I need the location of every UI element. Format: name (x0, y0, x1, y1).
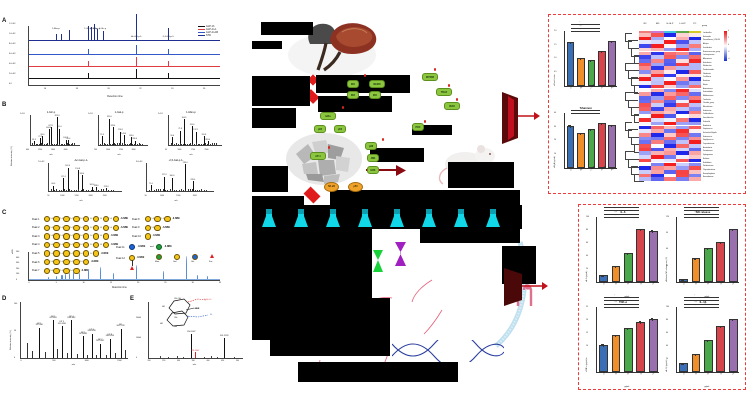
hexose-unit (63, 216, 69, 222)
panel-a-peak (136, 57, 137, 66)
bar-PC (608, 41, 616, 86)
heatmap-row-label: Romboutsia (703, 126, 711, 127)
spectrum-noise (101, 189, 102, 191)
panel-d-peak-label: DP 62000.4238 (88, 329, 96, 333)
bar-L-GLP (588, 129, 596, 168)
panel-a-plot: 1-Man-p1-Glc-p1-Gal-p1-Fuc-p1-Glc-p-Ac-G… (28, 26, 220, 86)
panel-e-peak-label: 376.1007 (191, 350, 199, 352)
panel-d-peak (110, 339, 111, 358)
spectrum-noise (154, 190, 155, 191)
heatmap-row-label: Escherichia-Shigella (703, 133, 717, 134)
spectrum-peak-label: 137.1 (193, 129, 198, 131)
error-cap (579, 58, 581, 59)
glycan-chain: 1-41-41-41-41-41-4-6-NBE (44, 233, 119, 239)
heatmap-row-label: Rikenellaceae (703, 107, 712, 108)
spectrum-title: -2,6-Gal-p-1- (136, 159, 216, 162)
spectrum-peak (57, 117, 58, 145)
spectrum-noise (197, 190, 198, 191)
group-label: NC (644, 23, 647, 25)
spectrum-noise (59, 190, 60, 191)
panel-b-spectrum: 1-Gal-p72.8325.0128.6170.8143.4120.0266.… (88, 112, 150, 154)
error-cap (579, 133, 581, 134)
barchart-xtick: LPS (652, 281, 656, 285)
panel-a-peak (97, 29, 98, 40)
barchart-ytick: 0 (554, 85, 555, 87)
barchart-ytick: 40 (554, 112, 556, 114)
redaction-block (252, 108, 296, 128)
conjunction: and (150, 246, 154, 248)
panel-e-xtick: 200 (148, 360, 151, 362)
spectrum-noise (71, 144, 72, 145)
spectrum-noise (192, 189, 193, 191)
chromatogram-peak (136, 265, 137, 280)
spectrum-peak-label: 120.0 (129, 135, 134, 137)
heatmap-cell (664, 177, 676, 181)
error-bar (570, 42, 571, 44)
panel-d-xlabel: m/z (72, 364, 76, 366)
spectrum-noise (62, 144, 63, 145)
spectrum-noise (49, 144, 50, 145)
error-bar (570, 126, 571, 128)
error-bar (652, 319, 653, 322)
panel-c-peak-row: Peak 11-41-41-41-41-41-41-4-6-NBE (32, 216, 128, 222)
chrom-xtick: 15 (110, 282, 112, 284)
spectrum-noise (201, 144, 202, 145)
diversity-barchart: 00.51.01.52.0Chao1 indexCTMDL-GLPH-GLPPC… (553, 25, 619, 101)
spectrum-noise (74, 143, 75, 145)
error-bar (720, 243, 721, 244)
spectrum-xtick: 2000 (132, 149, 136, 151)
panel-d-peak (100, 344, 101, 358)
glycosidic-bond: 1-4 (100, 218, 102, 220)
spectrum-noise (71, 190, 72, 191)
error-cap (626, 328, 628, 329)
spectrum-noise (54, 144, 55, 145)
barchart-xtick: 25 (695, 373, 698, 376)
panel-d-peak (39, 328, 40, 358)
spectrum-noise (34, 144, 35, 145)
barchart-ytick: 0 (666, 371, 667, 373)
barchart-xtick: 50 (627, 283, 630, 286)
barchart-ylabel: Chao1 index (554, 74, 556, 85)
heatmap-row-label: Ralstonia (703, 159, 709, 160)
spectrum-noise (140, 144, 141, 145)
panel-d-peak-label: DP 51673.4485 (79, 332, 87, 336)
panel-d-minor-peak (115, 353, 116, 358)
cytokine-chart: IL-6020406080100IL-6 (pg/mL)μg/mLCT25501… (585, 211, 661, 297)
bar-CT (567, 42, 575, 86)
panel-e-peak (195, 352, 196, 358)
color-scale-tick: -4 (728, 59, 729, 60)
group-color-band (639, 31, 651, 33)
spectrum-noise (189, 144, 190, 145)
barchart-ylabel: IL-1β (pg/mL) (666, 360, 668, 371)
spectrum-noise (83, 189, 84, 191)
heatmap-row-label: Enterorhabdus (703, 92, 713, 93)
spectrum-ymax: 7.0×10⁶ (38, 161, 45, 163)
barchart: NO release0306090120Relative NO release … (665, 211, 741, 297)
spectrum-noise (130, 143, 131, 145)
panel-d-peak-label: DP 2692.2663 (50, 316, 57, 320)
error-cap (731, 319, 733, 320)
spectrum-peak (109, 119, 110, 145)
spectrum-peak-label: 117.3 (162, 174, 167, 176)
error-cap (589, 129, 591, 130)
panel-e-minor-peak (168, 357, 169, 359)
glycosidic-bond: 1-4 (100, 227, 102, 229)
spectrum-noise (165, 190, 166, 191)
panel-a-peak (168, 61, 169, 66)
panel-e-minor-peak (217, 357, 218, 358)
panel-a-chromatogram: A 1-Man-p1-Glc-p1-Gal-p1-Fuc-p1-Glc-p-Ac… (6, 22, 224, 96)
spectrum-noise (207, 144, 208, 145)
bar-100 (636, 229, 645, 282)
spectrum-noise (56, 144, 57, 145)
error-cap (639, 321, 641, 322)
dp-mz: 2664.5538 (106, 336, 114, 338)
pathway-node-p65: p65 (314, 125, 326, 133)
barchart-xtick: 50 (707, 373, 710, 376)
bar-PC (608, 125, 616, 168)
spectrum-noise (187, 144, 188, 145)
spectrum-xlabel: m/z (49, 154, 52, 156)
panel-a-xtick: 20 (107, 88, 109, 90)
chrom-ytick: 500 (16, 251, 19, 253)
heatmap-cell (639, 177, 651, 181)
barchart-xtick: 25 (615, 283, 618, 286)
glycan-chain: 1-41-41-41-41-41-41-4-6-NBE (44, 216, 128, 222)
spectrum-peak (193, 181, 194, 191)
spectrum-noise (32, 143, 33, 145)
peak-name: Peak 9 (132, 226, 144, 229)
panel-a-peak (168, 49, 169, 54)
spectrum-noise (108, 190, 109, 191)
panel-a-peak (61, 34, 62, 40)
barchart-xtick: LPS (652, 371, 656, 375)
spectrum-noise (216, 143, 217, 145)
spectrum-noise (41, 143, 42, 145)
barchart-xtick: 100 (640, 372, 644, 376)
bar-H-GLP (598, 51, 606, 86)
error-bar (590, 60, 591, 62)
hexose-unit (44, 225, 50, 231)
spectrum-xtick: 50 (165, 149, 167, 151)
barchart-xtick: 25 (695, 283, 698, 286)
barchart: TNF-α0510152025TNF-α (pg/mL)μg/mLCT25501… (585, 301, 661, 387)
error-cap (639, 229, 641, 230)
panel-c-peak-row: Peak 41-41-41-41-41-41-4-6-NBE (32, 242, 118, 248)
hexose-unit (73, 242, 79, 248)
panel-a-trace (29, 78, 220, 79)
panel-d-letter: D (2, 296, 6, 302)
spectrum-xlabel: m/z (117, 154, 120, 156)
error-cap (614, 266, 616, 267)
barchart-plot: CT2550100LPS********** (676, 307, 739, 373)
panel-d-minor-peak (87, 355, 88, 358)
spectrum-noise (78, 189, 79, 191)
barchart-xtick: CT (570, 86, 573, 89)
redaction-block (448, 162, 514, 188)
heatmap-row-label: Parabacteroides (703, 70, 714, 71)
error-bar (603, 276, 604, 277)
panel-a-trace (29, 66, 220, 67)
spectrum-peak-label: 150.8 (75, 168, 80, 170)
panel-a-peak (103, 31, 104, 40)
spectrum-noise (86, 190, 87, 192)
hexose-unit (73, 225, 79, 231)
spectrum-xtick: 2500 (205, 149, 209, 151)
spectrum-peak-label: 170.4 (66, 138, 71, 140)
bar-CT (599, 275, 608, 282)
spectrum-peak-label: 266.4 (132, 138, 137, 140)
redaction-block (252, 229, 372, 301)
spectrum-noise (47, 143, 48, 145)
barchart-xtick: MD (580, 168, 584, 172)
panel-d-peak-label: DP 41346.3862 (67, 316, 75, 320)
spectrum-noise (81, 190, 82, 191)
panel-c-peak-row: Peak 81-41-4-6-NBE (132, 216, 180, 222)
dna-node-nfb: NF-κB (324, 182, 339, 192)
spectrum-peak (51, 127, 52, 145)
spectrum-peak-label: 188.0 (94, 185, 99, 187)
glycosidic-bond: 1-4 (90, 235, 92, 237)
panel-c-peak-row: Peak 31-41-41-41-41-41-4-6-NBE (32, 233, 118, 239)
bar-MD (577, 133, 585, 168)
error-cap (626, 253, 628, 254)
spectrum-peak (68, 168, 69, 191)
heatmap-row-label: Muribaculum (703, 66, 712, 67)
heatmap-row-label: Sphingomonas (703, 155, 713, 156)
reducing-end-label: -6-NBE (111, 235, 119, 237)
legend-swatch (198, 29, 205, 30)
spectrum-noise (214, 143, 215, 145)
hexose-unit (73, 233, 79, 239)
error-cap (694, 259, 696, 260)
panel-e-minor-peak (160, 356, 161, 358)
heatmap-row-label: Brevundimonas (703, 177, 713, 178)
spectrum-noise (66, 144, 67, 145)
group-color-band (676, 31, 688, 33)
panel-d-minor-peak (45, 352, 46, 358)
spectrum-noise (119, 143, 120, 145)
panel-a-peak (136, 69, 137, 78)
panel-a-peak (94, 24, 95, 40)
glycosidic-bond: 1-4 (110, 218, 112, 220)
spectrum-noise (54, 190, 55, 191)
heatmap-cell (676, 177, 688, 181)
error-bar (720, 327, 721, 328)
panel-a-legend-item: STD (198, 34, 218, 37)
bar-LPS (649, 231, 658, 282)
glycan-chain: -6-NBE (145, 233, 161, 239)
error-bar (640, 230, 641, 232)
panel-c-peak-row: Peak 21-41-41-41-41-41-41-4-6-NBE (32, 225, 128, 231)
color-scale-tick: 4 (728, 31, 729, 32)
spectrum-noise (51, 189, 52, 191)
barchart-xtick: 100 (640, 282, 644, 286)
error-cap (706, 248, 708, 249)
barchart-xlabel: μg/mL (704, 386, 709, 388)
spectrum-noise (96, 190, 97, 192)
dp-mz: 1673.4485 (79, 334, 87, 336)
spectrum-noise (139, 143, 140, 145)
extraction-flask-icon (356, 207, 374, 236)
spectrum-plot: 72.8325.0128.6170.8143.4120.0266.4 (98, 115, 148, 146)
panel-c-oligosaccharides: C nRIU Peak 11-41-41-41-41-41-41-4-6-NBE… (6, 212, 224, 290)
bar-L-GLP (588, 60, 596, 86)
spectrum-noise (142, 144, 143, 145)
panel-d-minor-peak (67, 353, 68, 358)
panel-d-minor-peak (77, 354, 78, 358)
dp-mz: 1346.3862 (67, 318, 75, 320)
spectrum-noise (76, 190, 77, 191)
spectrum-xtick: 1000 (60, 195, 64, 197)
spectrum-plot: 93.372.198.0404.0627.1822.0111.0102.3170… (30, 115, 80, 146)
panel-d-ytick: 0 (14, 357, 15, 359)
spectrum-peak (82, 175, 83, 191)
panel-e-xtick: 450 (221, 360, 224, 362)
spectrum-peak-label: 162.4 (65, 165, 70, 167)
spectrum-noise (204, 190, 205, 191)
panel-e-peak (224, 338, 225, 358)
spectrum-peak (184, 119, 185, 145)
error-bar (603, 345, 604, 347)
spectrum-xlabel: m/z (189, 154, 192, 156)
spectrum-noise (115, 144, 116, 145)
heatmap-legend-title: group (702, 25, 707, 27)
spectrum-noise (190, 189, 191, 191)
spectrum-noise (158, 189, 159, 191)
spectrum-noise (203, 144, 204, 145)
spectrum-noise (195, 190, 196, 191)
spectrum-noise (66, 190, 67, 191)
spectrum-noise (39, 144, 40, 145)
panel-e-xtick: 500 (236, 360, 239, 362)
spectrum-peak-label: 170.8 (118, 129, 123, 131)
color-scale-tick: -2 (728, 52, 729, 53)
pathway-node-ap1: AP-1 (310, 152, 326, 160)
heatmap-row-label: Novosphingobium (703, 174, 715, 175)
dp-mz: 3022.1728 (117, 326, 125, 328)
barchart-xtick: LPS (732, 281, 736, 285)
glycosidic-bond: 1-4 (90, 227, 92, 229)
spectrum-peak-label: 72.1 (38, 136, 42, 138)
chromatogram-peak (100, 267, 101, 280)
spectrum-peak-label: 71.0 (149, 183, 153, 185)
barchart-xtick: 50 (627, 373, 630, 376)
spectrum-noise (106, 190, 107, 191)
spectrum-plot: 71.0117.3166.0138.4228.0 (146, 163, 214, 192)
spectrum-noise (64, 189, 65, 191)
heatmap-row-label: Lactobacillus (703, 33, 712, 34)
panel-a-xtick: 22 (139, 88, 141, 90)
extraction-flask-icon (324, 207, 342, 236)
panel-d-peak-label: DP 1355.1366 (36, 323, 43, 327)
bar-25 (612, 335, 621, 372)
barchart-xtick: 100 (720, 372, 724, 376)
reducing-end-label: -6-NBE (164, 246, 172, 248)
error-cap (568, 42, 570, 43)
barchart-ytick: 60 (586, 242, 588, 244)
panel-d-ytick: 100 (14, 303, 17, 305)
spectrum-noise (160, 189, 161, 191)
extraction-flask-icon (388, 207, 406, 236)
spectrum-peak-label: 50.6 (170, 135, 174, 137)
panel-a-xtick: 16 (44, 88, 46, 90)
chrom-xtick: 5 (56, 282, 57, 284)
panel-d-xtick: 500 (52, 360, 55, 362)
chrom-ytick: 100 (16, 273, 19, 275)
hexose-unit (145, 216, 151, 222)
spectrum-xtick: 2500 (103, 195, 107, 197)
dp-mz: 1019.3288 (58, 324, 66, 326)
bar-25 (612, 266, 621, 282)
hexose-unit (73, 216, 79, 222)
panel-c-peak-row: Peak 11-6-NBEand-6-NBE (116, 244, 172, 250)
chrom-xtick: 30 (192, 282, 194, 284)
barchart: Shannon010203040SIgA (μg/mL)CTMDL-GLPH-G… (553, 107, 619, 183)
panel-c-xlabel: Retention time (112, 287, 127, 289)
spectrum-peak-label: 155.8 (201, 134, 206, 136)
heatmap-row-label: Prevotellaceae_UCG-001 (703, 40, 720, 41)
spectrum-noise (127, 144, 128, 145)
panel-d-xtick: 0 (20, 360, 21, 362)
spectrum-peak-label: 72.8 (100, 134, 104, 136)
barchart-ytick: 0 (586, 281, 587, 283)
bar-CT (599, 345, 608, 372)
bar-MD (577, 58, 585, 86)
spectrum-ymax: 1×10⁶ (20, 113, 25, 115)
panel-d-peak (121, 329, 122, 358)
spectrum-title: -Ac-Gal-p-1- (38, 159, 124, 162)
spectrum-noise (61, 190, 62, 191)
redaction-block (298, 362, 458, 382)
error-bar (683, 280, 684, 281)
bar-50 (624, 328, 633, 372)
spectrum-xtick: 1700 (191, 149, 195, 151)
panel-a-trace (29, 40, 220, 41)
bar-25 (692, 354, 701, 372)
reducing-end-label: -6-NBE (162, 227, 170, 229)
spectrum-xtick: 1600 (51, 149, 55, 151)
panel-a-ytick: 1.0×10⁹ (9, 33, 16, 35)
heatmap-row-label: Eubacterium (703, 111, 711, 112)
error-bar (601, 123, 602, 125)
error-cap (589, 60, 591, 61)
spectrum-noise (196, 143, 197, 145)
spectrum-noise (42, 144, 43, 145)
spectrum-noise (88, 190, 89, 191)
spectrum-title: 1-Man-p (158, 111, 224, 114)
barchart-ytick: 20 (554, 139, 556, 141)
hexose-unit (113, 216, 119, 222)
panel-d-minor-peak (32, 351, 33, 358)
barchart-ytick: 100 (586, 216, 589, 218)
panel-e-plot: 356.1087376.1007501.21282002503003504004… (148, 302, 243, 359)
group-label: L-GLP (679, 23, 685, 25)
panel-a-peak (88, 49, 89, 54)
redaction-block (252, 166, 288, 192)
spectrum-peak-label: 93.3 (32, 139, 36, 141)
hexose-unit (103, 233, 109, 239)
heatmap-row-label: Pseudomonas (703, 151, 713, 152)
spectrum-noise (135, 144, 136, 145)
spectrum-noise (64, 144, 65, 145)
error-bar (695, 259, 696, 260)
panel-e-minor-peak (183, 357, 184, 358)
spectrum-noise (134, 144, 135, 145)
spectrum-noise (163, 189, 164, 191)
